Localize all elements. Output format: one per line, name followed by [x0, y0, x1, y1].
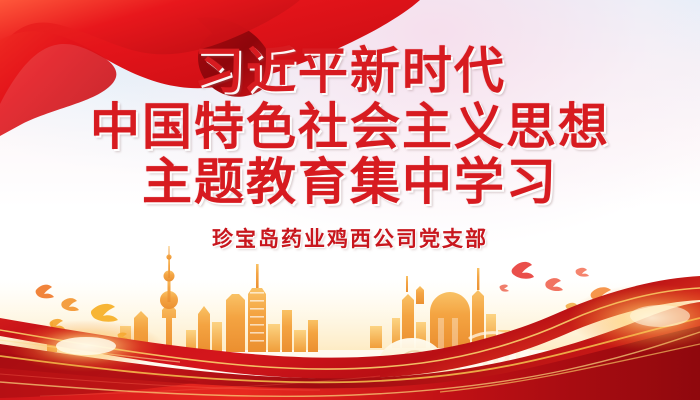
title-line-1: 习近平新时代 — [0, 46, 700, 98]
title-line-3: 主题教育集中学习 — [0, 157, 700, 209]
title-block: 习近平新时代 中国特色社会主义思想 主题教育集中学习 珍宝岛药业鸡西公司党支部 — [0, 46, 700, 253]
subtitle-organization: 珍宝岛药业鸡西公司党支部 — [0, 223, 700, 253]
party-education-banner: 习近平新时代 中国特色社会主义思想 主题教育集中学习 珍宝岛药业鸡西公司党支部 — [0, 0, 700, 400]
title-line-2: 中国特色社会主义思想 — [0, 102, 700, 154]
